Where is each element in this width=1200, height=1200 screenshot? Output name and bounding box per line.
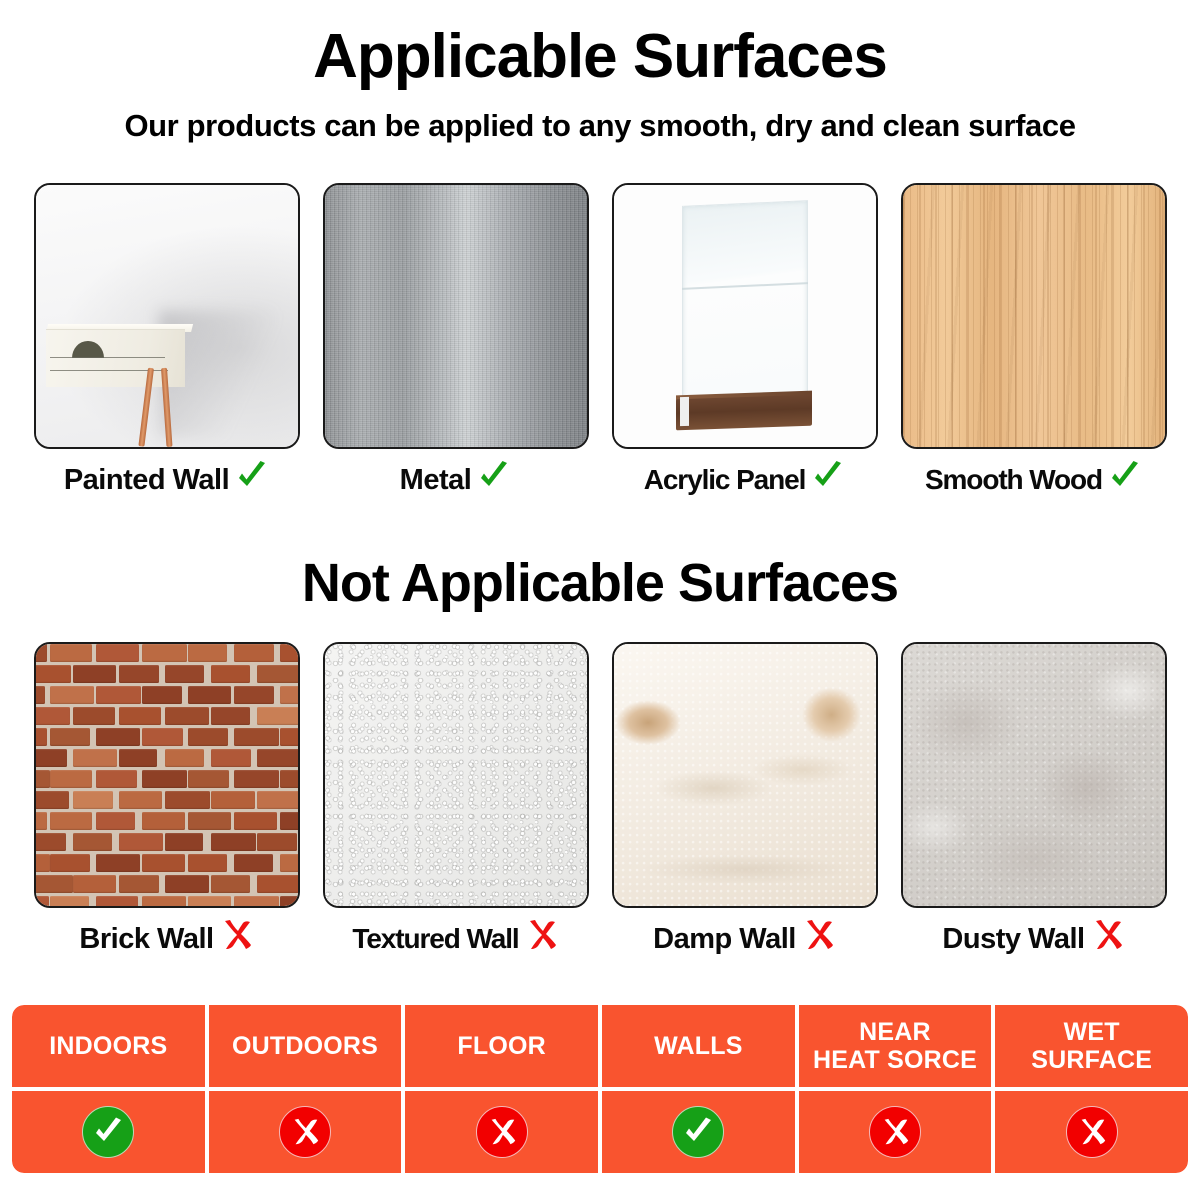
cross-circle-icon <box>1066 1106 1118 1158</box>
brick-wall-image <box>36 644 298 906</box>
brick <box>50 854 90 872</box>
label-brick-wall: Brick Wall <box>79 923 213 956</box>
brick-row <box>34 854 300 876</box>
brick <box>188 854 226 872</box>
brick <box>96 896 138 908</box>
brick <box>96 728 140 746</box>
label-acrylic-panel: Acrylic Panel <box>644 464 806 496</box>
brick-row <box>34 791 300 813</box>
card-painted-wall[interactable]: Painted Wall <box>34 183 300 501</box>
cross-circle-icon <box>279 1106 331 1158</box>
brick <box>50 896 89 908</box>
brick <box>188 644 227 662</box>
table-header-label: NEAR HEAT SORCE <box>813 1018 977 1074</box>
brick-row <box>34 749 300 771</box>
brick <box>96 854 140 872</box>
card-textured-wall[interactable]: Textured Wall <box>323 642 589 960</box>
brick <box>34 707 70 725</box>
thumbnail-damp-wall <box>612 642 878 908</box>
table-header-label: INDOORS <box>49 1032 167 1060</box>
brick <box>142 896 186 908</box>
check-icon <box>1108 459 1142 500</box>
brick <box>280 896 299 908</box>
brick <box>188 728 228 746</box>
brick <box>234 770 279 788</box>
brick <box>234 728 279 746</box>
caption-textured-wall: Textured Wall <box>323 918 589 959</box>
check-icon <box>235 459 269 501</box>
cross-circle-icon <box>869 1106 921 1158</box>
brick <box>34 896 49 908</box>
brick <box>280 854 299 872</box>
brick <box>50 728 90 746</box>
page-title: Applicable Surfaces <box>0 0 1200 88</box>
brick-row <box>34 728 300 750</box>
label-painted-wall: Painted Wall <box>64 464 229 497</box>
card-metal[interactable]: Metal <box>323 183 589 501</box>
table-header-cell: WALLS <box>602 1005 795 1087</box>
label-textured-wall: Textured Wall <box>352 923 518 955</box>
brick <box>34 854 50 872</box>
brick <box>50 686 94 704</box>
brick <box>165 707 209 725</box>
brick <box>188 896 231 908</box>
smooth-wood-image <box>903 185 1165 447</box>
table-status-cell <box>209 1091 402 1173</box>
acrylic-sheet <box>682 200 808 410</box>
brick <box>34 770 50 788</box>
brick-row <box>34 875 300 897</box>
brick <box>73 707 115 725</box>
check-circle-icon <box>672 1106 724 1158</box>
brick <box>34 875 73 893</box>
brick <box>257 749 299 767</box>
caption-damp-wall: Damp Wall <box>612 918 878 960</box>
brick <box>119 833 163 851</box>
brick <box>280 644 299 662</box>
table-header-cell: FLOOR <box>405 1005 598 1087</box>
label-damp-wall: Damp Wall <box>653 923 796 956</box>
table-header-cell: WET SURFACE <box>995 1005 1188 1087</box>
brick <box>73 791 112 809</box>
cross-icon <box>525 918 559 959</box>
brick <box>73 833 112 851</box>
brick <box>188 686 231 704</box>
brick <box>280 812 299 830</box>
brick <box>34 812 47 830</box>
brick <box>119 665 159 683</box>
brick <box>165 749 204 767</box>
brick <box>280 770 299 788</box>
card-dusty-wall[interactable]: Dusty Wall <box>901 642 1167 960</box>
brick <box>211 749 251 767</box>
caption-smooth-wood: Smooth Wood <box>901 459 1167 500</box>
brick <box>96 770 137 788</box>
caption-dusty-wall: Dusty Wall <box>901 918 1167 960</box>
card-brick-wall[interactable]: Brick Wall <box>34 642 300 960</box>
caption-brick-wall: Brick Wall <box>34 918 300 960</box>
brick <box>234 644 274 662</box>
brick <box>234 812 277 830</box>
brushed-metal-image <box>325 185 587 447</box>
brick-row <box>34 812 300 834</box>
brick-row <box>34 644 300 666</box>
brick <box>73 749 117 767</box>
card-damp-wall[interactable]: Damp Wall <box>612 642 878 960</box>
table-status-cell <box>12 1091 205 1173</box>
compatibility-table: INDOORS OUTDOORS FLOOR WALLS NEAR HEAT S… <box>12 1005 1188 1173</box>
thumbnail-painted-wall <box>34 183 300 449</box>
damp-wall-image <box>614 644 876 906</box>
brick <box>142 770 187 788</box>
infographic-page: Applicable Surfaces Our products can be … <box>0 0 1200 1200</box>
brick <box>257 875 299 893</box>
brick-row <box>34 896 300 908</box>
table-status-cell <box>995 1091 1188 1173</box>
wood-base <box>676 395 812 431</box>
brick-row <box>34 686 300 708</box>
brick <box>257 833 296 851</box>
brick <box>142 728 183 746</box>
brick <box>34 665 71 683</box>
table-header-label: WET SURFACE <box>1031 1018 1152 1074</box>
brick <box>211 791 254 809</box>
brick-row <box>34 707 300 729</box>
brick <box>96 644 139 662</box>
brick <box>211 833 256 851</box>
brick <box>188 812 231 830</box>
cross-icon <box>220 918 254 960</box>
check-icon <box>811 459 845 500</box>
table-header-label: FLOOR <box>457 1032 546 1060</box>
card-acrylic-panel[interactable]: Acrylic Panel <box>612 183 878 501</box>
table-header-label: WALLS <box>654 1032 743 1060</box>
brick <box>50 812 92 830</box>
not-applicable-title: Not Applicable Surfaces <box>0 556 1200 610</box>
brick-row <box>34 665 300 687</box>
caption-acrylic-panel: Acrylic Panel <box>612 459 878 500</box>
drawer-line <box>50 357 165 359</box>
table-header-cell: OUTDOORS <box>209 1005 402 1087</box>
brick <box>142 644 187 662</box>
brick <box>257 791 299 809</box>
brick <box>119 707 161 725</box>
card-smooth-wood[interactable]: Smooth Wood <box>901 183 1167 501</box>
brick-row <box>34 770 300 792</box>
brick <box>280 728 299 746</box>
brick <box>142 854 185 872</box>
table-header-cell: NEAR HEAT SORCE <box>799 1005 992 1087</box>
applicable-surfaces-row: Painted Wall Metal <box>0 183 1200 501</box>
label-metal: Metal <box>400 464 472 497</box>
textured-wall-image <box>325 644 587 906</box>
label-smooth-wood: Smooth Wood <box>925 464 1102 496</box>
brick <box>257 707 299 725</box>
table-status-cell <box>602 1091 795 1173</box>
cross-circle-icon <box>476 1106 528 1158</box>
table-status-cell <box>405 1091 598 1173</box>
label-dusty-wall: Dusty Wall <box>942 923 1084 956</box>
brick-row <box>34 833 300 855</box>
brick <box>119 791 162 809</box>
thumbnail-dusty-wall <box>901 642 1167 908</box>
brick <box>234 896 279 908</box>
page-subtitle: Our products can be applied to any smoot… <box>0 88 1200 141</box>
brick <box>73 665 116 683</box>
brick <box>188 770 229 788</box>
not-applicable-surfaces-row: Brick Wall Textured Wall <box>0 642 1200 960</box>
brick <box>34 833 66 851</box>
thumbnail-smooth-wood <box>901 183 1167 449</box>
brick <box>34 644 47 662</box>
brick <box>211 707 250 725</box>
cross-icon <box>802 918 836 960</box>
brick <box>165 791 210 809</box>
brick <box>234 854 273 872</box>
caption-painted-wall: Painted Wall <box>34 459 300 501</box>
thumbnail-brick-wall <box>34 642 300 908</box>
brick <box>96 812 135 830</box>
brick <box>34 791 70 809</box>
brick <box>50 770 92 788</box>
thumbnail-textured-wall <box>323 642 589 908</box>
brick <box>142 686 182 704</box>
check-circle-icon <box>82 1106 134 1158</box>
brick <box>280 686 299 704</box>
brick <box>142 812 185 830</box>
brick <box>34 686 46 704</box>
brick <box>234 686 274 704</box>
brick <box>165 833 203 851</box>
dusty-wall-image <box>903 644 1165 906</box>
table-status-cell <box>799 1091 992 1173</box>
brick <box>257 665 299 683</box>
thumbnail-metal <box>323 183 589 449</box>
brick <box>73 875 116 893</box>
brick <box>165 665 204 683</box>
brick <box>165 875 209 893</box>
wood-base-slot <box>680 397 689 426</box>
brick <box>119 749 157 767</box>
brick <box>119 875 159 893</box>
brick <box>34 749 67 767</box>
brick <box>34 728 48 746</box>
brick <box>211 665 250 683</box>
thumbnail-acrylic-panel <box>612 183 878 449</box>
caption-metal: Metal <box>323 459 589 501</box>
brick <box>211 875 250 893</box>
table-header-label: OUTDOORS <box>232 1032 378 1060</box>
check-icon <box>477 459 511 501</box>
table-header-cell: INDOORS <box>12 1005 205 1087</box>
brick <box>96 686 141 704</box>
cross-icon <box>1091 918 1125 960</box>
brick <box>50 644 92 662</box>
